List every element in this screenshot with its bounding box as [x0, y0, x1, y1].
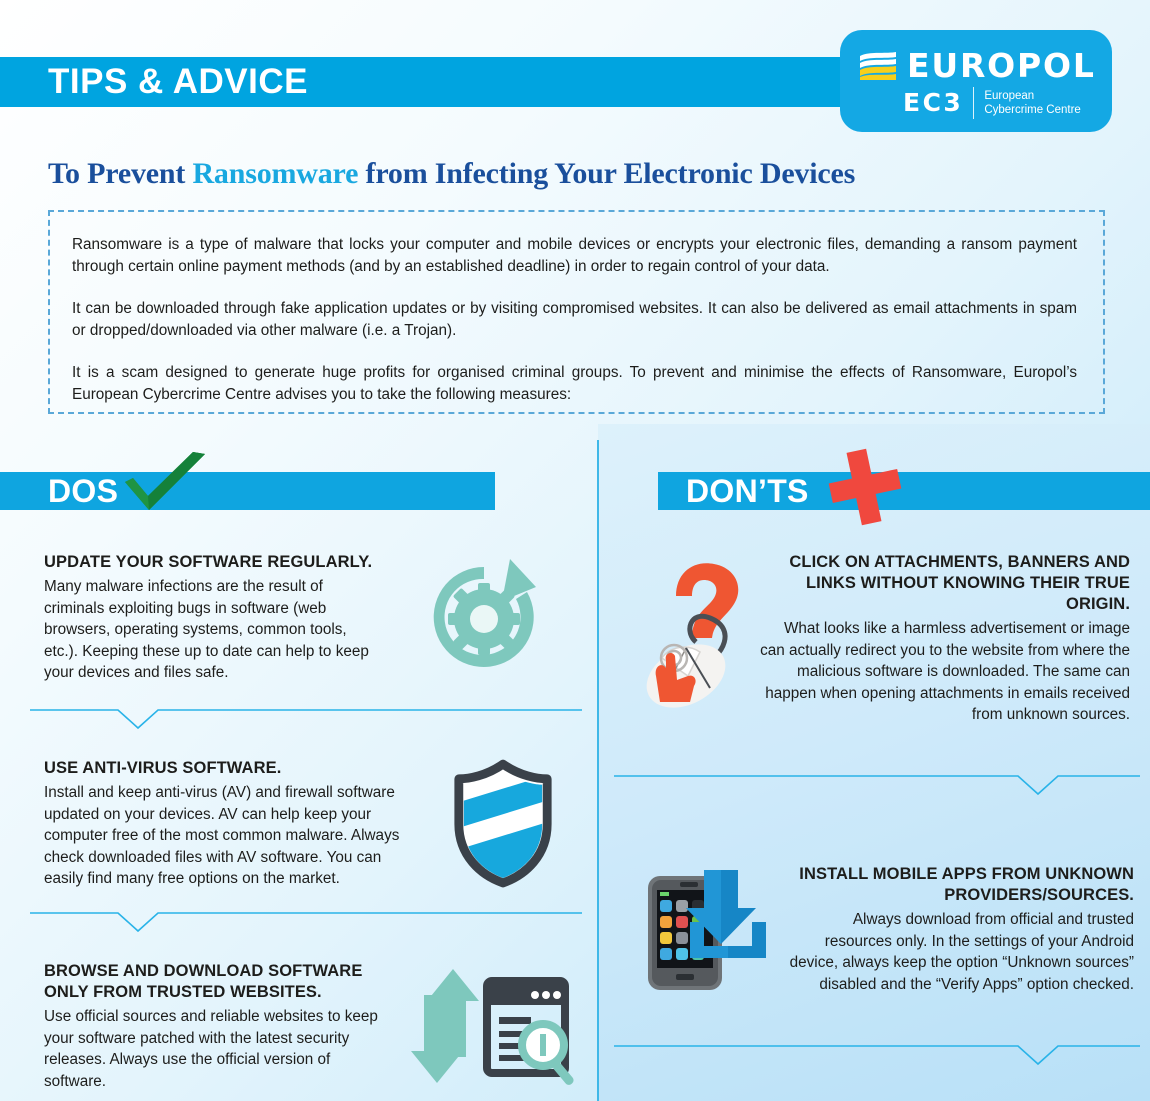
logo-unit-text: EC3 [903, 90, 963, 116]
dos-item: UPDATE YOUR SOFTWARE REGULARLY. Many mal… [44, 552, 592, 684]
donts-section-heading: DON’TS [686, 471, 809, 511]
europol-wave-flag-icon [858, 51, 898, 81]
dos-item-body: Install and keep anti-virus (AV) and fir… [44, 782, 414, 890]
logo-secondary-row: EC3 European Cybercrime Centre [903, 87, 1094, 119]
europol-ec3-logo: EUROPOL EC3 European Cybercrime Centre [840, 30, 1112, 132]
headline: To Prevent Ransomware from Infecting You… [48, 157, 855, 191]
donts-item-text: CLICK ON ATTACHMENTS, BANNERS AND LINKS … [760, 552, 1130, 726]
dos-item-body: Many malware infections are the result o… [44, 576, 384, 684]
cross-mark-icon [820, 448, 908, 526]
dos-item-text: USE ANTI-VIRUS SOFTWARE. Install and kee… [44, 758, 414, 890]
intro-paragraph: It is a scam designed to generate huge p… [72, 362, 1077, 406]
intro-paragraph: It can be downloaded through fake applic… [72, 298, 1077, 342]
logo-subtitle-text: European Cybercrime Centre [984, 89, 1094, 117]
infographic-page: TIPS & ADVICE EUROPOL EC3 European Cyber… [0, 0, 1150, 1101]
donts-item: INSTALL MOBILE APPS FROM UNKNOWN PROVIDE… [640, 864, 1140, 995]
donts-item-text: INSTALL MOBILE APPS FROM UNKNOWN PROVIDE… [788, 864, 1134, 995]
dos-item-text: BROWSE AND DOWNLOAD SOFTWARE ONLY FROM T… [44, 961, 392, 1092]
headline-highlight: Ransomware [192, 157, 358, 190]
page-title: TIPS & ADVICE [48, 62, 308, 102]
intro-panel: Ransomware is a type of malware that loc… [48, 210, 1105, 414]
dos-item-title: USE ANTI-VIRUS SOFTWARE. [44, 758, 414, 779]
logo-brand-text: EUROPOL [907, 49, 1096, 82]
dos-item-text: UPDATE YOUR SOFTWARE REGULARLY. Many mal… [44, 552, 384, 684]
dos-item-title: BROWSE AND DOWNLOAD SOFTWARE ONLY FROM T… [44, 961, 392, 1003]
logo-primary-row: EUROPOL [858, 49, 1096, 82]
donts-item: CLICK ON ATTACHMENTS, BANNERS AND LINKS … [640, 552, 1140, 726]
mouse-question-mark-icon [640, 552, 760, 712]
dos-item-title: UPDATE YOUR SOFTWARE REGULARLY. [44, 552, 384, 573]
dos-separator [30, 700, 582, 730]
dos-separator [30, 903, 582, 933]
dos-item: BROWSE AND DOWNLOAD SOFTWARE ONLY FROM T… [44, 961, 592, 1092]
intro-paragraph: Ransomware is a type of malware that loc… [72, 234, 1077, 278]
dos-section-heading: DOS [48, 471, 118, 511]
smartphone-download-icon [640, 864, 788, 994]
donts-separator [614, 1036, 1140, 1066]
donts-item-body: What looks like a harmless advertisement… [760, 618, 1130, 726]
update-gear-refresh-icon [384, 552, 584, 682]
upload-download-browser-search-icon [392, 961, 592, 1091]
column-divider [597, 440, 599, 1101]
logo-divider [973, 87, 974, 119]
dos-item-body: Use official sources and reliable websit… [44, 1006, 392, 1092]
headline-part-after: from Infecting Your Electronic Devices [358, 157, 855, 190]
donts-item-title: CLICK ON ATTACHMENTS, BANNERS AND LINKS … [760, 552, 1130, 615]
check-mark-icon [119, 452, 211, 514]
shield-icon [414, 758, 592, 888]
donts-separator [614, 766, 1140, 796]
donts-item-title: INSTALL MOBILE APPS FROM UNKNOWN PROVIDE… [788, 864, 1134, 906]
dos-item: USE ANTI-VIRUS SOFTWARE. Install and kee… [44, 758, 592, 890]
headline-part-before: To Prevent [48, 157, 192, 190]
donts-item-body: Always download from official and truste… [788, 909, 1134, 995]
